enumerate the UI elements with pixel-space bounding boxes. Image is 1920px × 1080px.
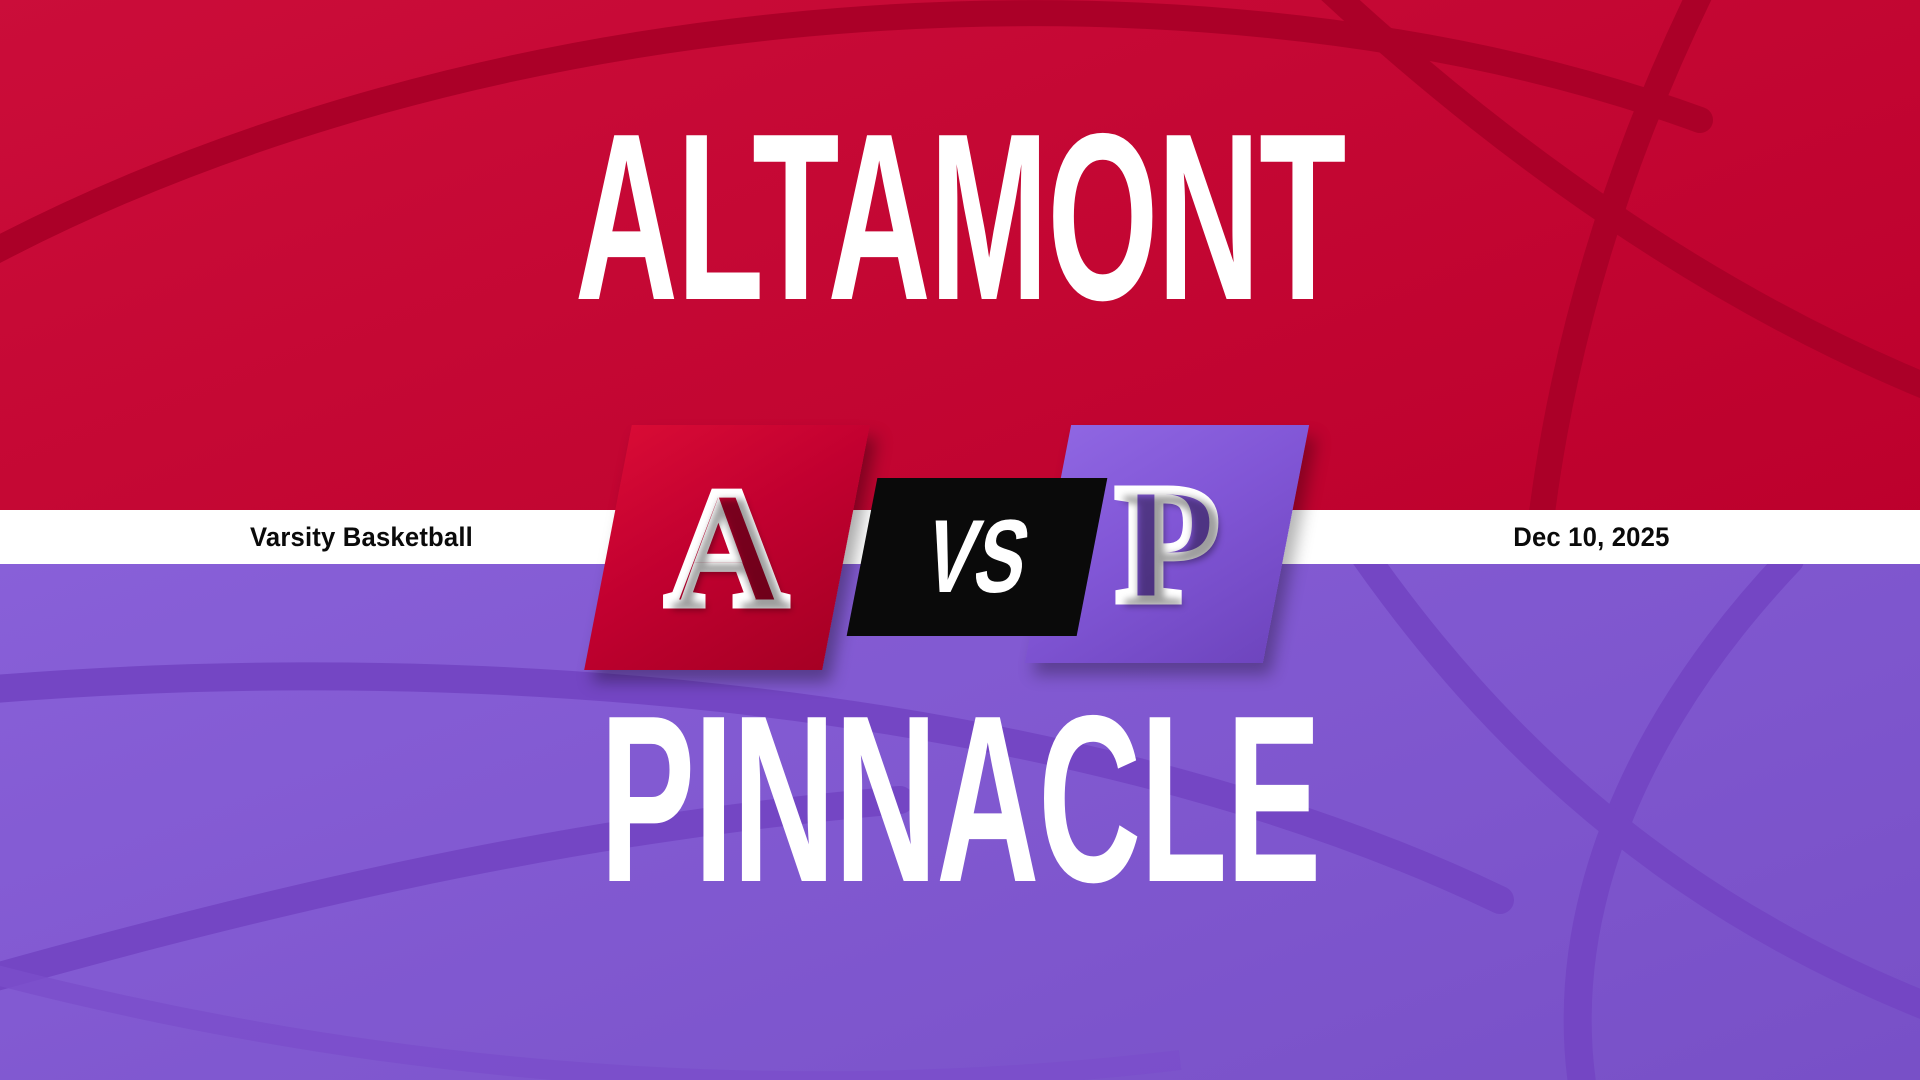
game-date: Dec 10, 2025 [1514,522,1670,553]
event-label: Varsity Basketball [250,522,473,553]
info-bar: Varsity Basketball Dec 10, 2025 [0,510,1920,564]
home-team-name: ALTAMONT [384,118,1536,318]
away-team-name: PINNACLE [384,700,1536,900]
matchup-graphic: ALTAMONT PINNACLE Varsity Basketball Dec… [0,0,1920,1080]
